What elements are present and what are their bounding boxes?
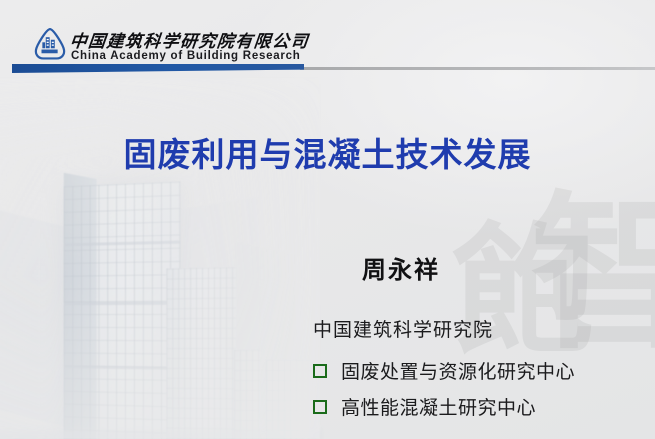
research-center-label: 高性能混凝土研究中心 [341, 393, 536, 420]
research-center-label: 固废处置与资源化研究中心 [341, 357, 575, 384]
slide-header: 中国建筑科学研究院有限公司 China Academy of Building … [0, 0, 655, 80]
presentation-slide: 飽 智 中国建筑科学研究院有限公司 China Academy of Build… [0, 0, 655, 439]
presenter-name: 周永祥 [362, 250, 440, 285]
affiliation-name: 中国建筑科学研究院 [313, 315, 493, 342]
list-item: 高性能混凝土研究中心 [313, 393, 575, 420]
header-rule-blue [12, 64, 304, 73]
header-rule-grey [300, 67, 655, 70]
research-center-list: 固废处置与资源化研究中心 高性能混凝土研究中心 [313, 357, 575, 429]
green-square-bullet-icon [313, 364, 327, 378]
list-item: 固废处置与资源化研究中心 [313, 357, 575, 384]
slide-title: 固废利用与混凝土技术发展 [0, 128, 655, 176]
green-square-bullet-icon [313, 400, 327, 414]
org-name-chinese: 中国建筑科学研究院有限公司 [69, 27, 311, 52]
watermark-character-right: 智 [530, 190, 655, 358]
cabr-building-emblem-icon [33, 27, 67, 61]
org-name-english: China Academy of Building Research [71, 50, 301, 62]
